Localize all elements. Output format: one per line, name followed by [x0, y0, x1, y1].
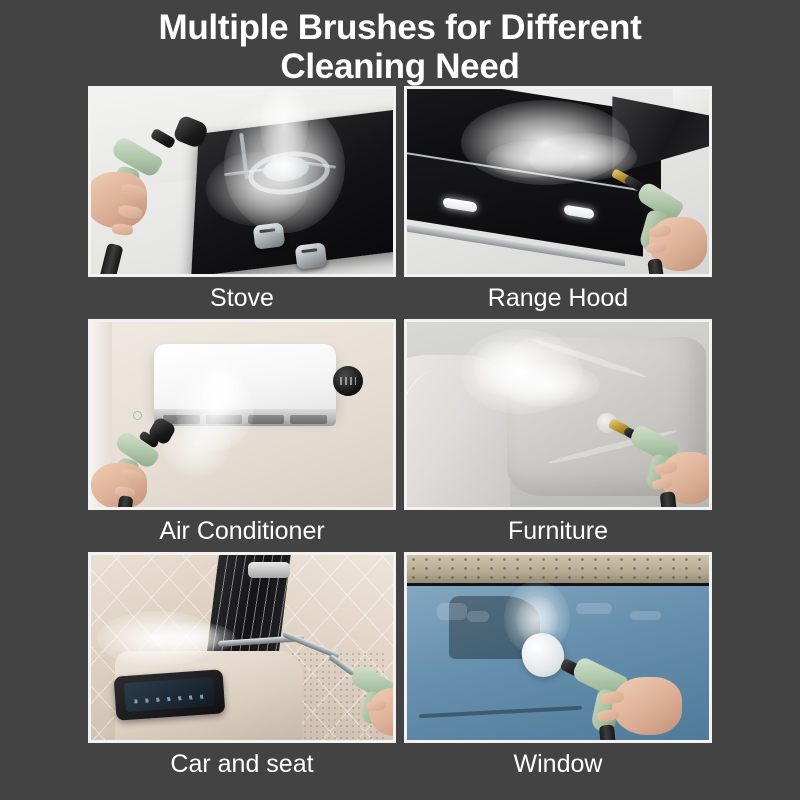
grab-handle	[248, 562, 290, 578]
rear-console-tablet	[114, 670, 226, 722]
power-hose	[599, 724, 616, 740]
caption-window: Window	[404, 743, 712, 785]
air-conditioner-unit	[154, 344, 335, 414]
scene-stove	[91, 89, 393, 274]
caption-range-hood: Range Hood	[404, 277, 712, 319]
grid-item-stove: Stove	[88, 86, 396, 319]
photo-window	[404, 552, 712, 743]
grid-row: Air Conditioner	[88, 319, 712, 552]
caption-air-conditioner: Air Conditioner	[88, 510, 396, 552]
brand-logo-icon	[133, 411, 142, 420]
grid-row: Stove	[88, 86, 712, 319]
glass-reflection	[437, 603, 467, 620]
grid-item-window: Window	[404, 552, 712, 785]
ac-louver	[290, 415, 326, 423]
roof-water-droplets	[407, 555, 709, 585]
scene-air-conditioner	[91, 322, 393, 507]
hand	[612, 677, 682, 735]
glass-reflection	[630, 611, 660, 620]
sofa-seam	[407, 370, 486, 507]
grid-row: Car and seat	[88, 552, 712, 785]
ac-louver	[206, 415, 242, 423]
stove-knob	[295, 243, 328, 270]
caption-car-and-seat: Car and seat	[88, 743, 396, 785]
hand	[91, 172, 147, 228]
grid-item-air-conditioner: Air Conditioner	[88, 319, 396, 552]
scene-range-hood	[407, 89, 709, 274]
glass-reflection	[576, 603, 612, 614]
glass-reflection	[467, 611, 488, 622]
ac-display-icon	[333, 366, 363, 396]
stove-knob	[253, 222, 286, 249]
photo-air-conditioner	[88, 319, 396, 510]
power-hose	[117, 495, 134, 507]
grid-item-range-hood: Range Hood	[404, 86, 712, 319]
page-title-line-1: Multiple Brushes for Different	[60, 8, 740, 47]
power-hose	[659, 491, 677, 507]
photo-furniture	[404, 319, 712, 510]
page-title: Multiple Brushes for Different Cleaning …	[0, 8, 800, 86]
photo-car-and-seat	[88, 552, 396, 743]
photo-stove	[88, 86, 396, 277]
grid-item-car-and-seat: Car and seat	[88, 552, 396, 785]
page-title-line-2: Cleaning Need	[60, 47, 740, 86]
caption-furniture: Furniture	[404, 510, 712, 552]
scene-car-and-seat	[91, 555, 393, 740]
scene-furniture	[407, 322, 709, 507]
caption-stove: Stove	[88, 277, 396, 319]
ac-louver	[248, 415, 284, 423]
scene-window	[407, 555, 709, 740]
brush-use-case-grid: Stove	[88, 86, 712, 785]
grid-item-furniture: Furniture	[404, 319, 712, 552]
tablet-screen	[124, 677, 215, 712]
photo-range-hood	[404, 86, 712, 277]
